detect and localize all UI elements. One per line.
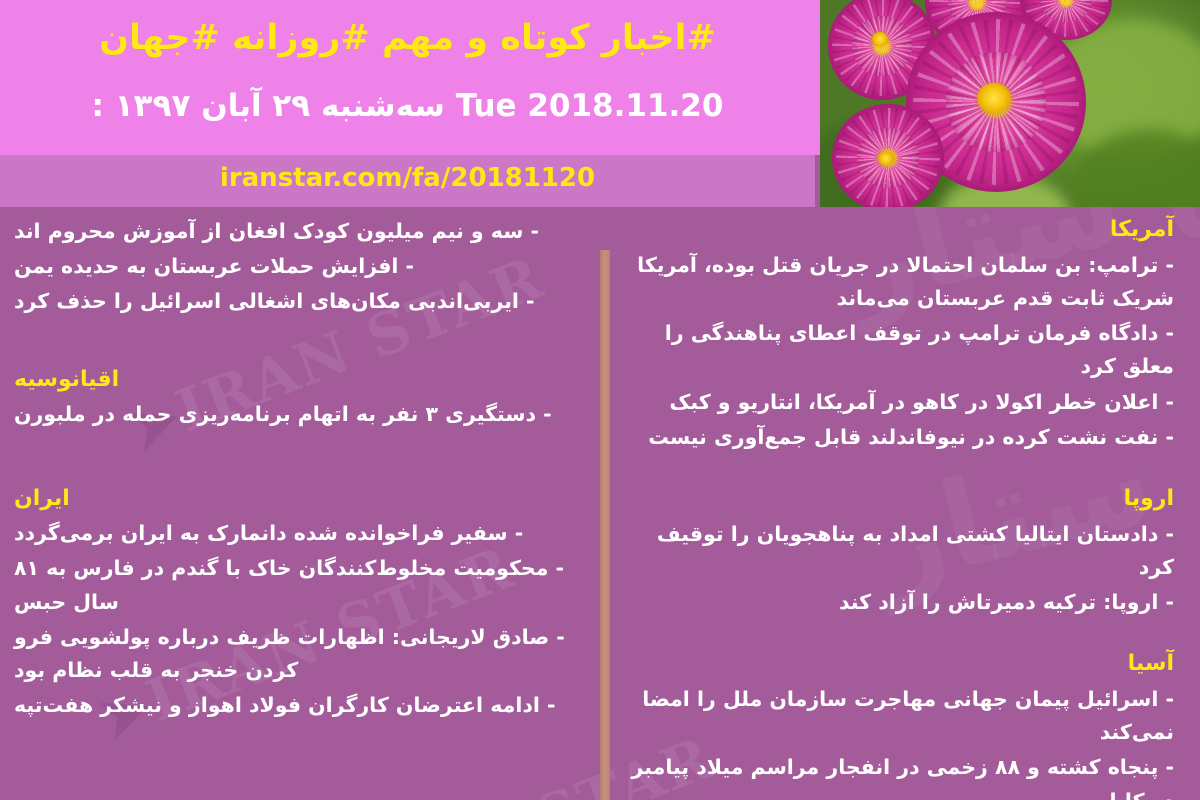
section-heading-europe: اروپا [608, 484, 1188, 514]
flower-center [878, 152, 894, 165]
flower-center-main [977, 83, 1011, 113]
left-news-column: - سه و نیم میلیون کودک افغان از آموزش مح… [0, 215, 585, 728]
news-item[interactable]: - دستگیری ۳ نفر به اتهام برنامه‌ریزی حمل… [0, 398, 585, 431]
section-oceania: اقیانوسیه - دستگیری ۳ نفر به اتهام برنام… [0, 365, 585, 432]
section-america: آمریکا - ترامپ: بن سلمان احتمالا در جریا… [608, 215, 1188, 454]
section-heading-oceania: اقیانوسیه [0, 365, 585, 395]
news-item[interactable]: - اعلان خطر اکولا در کاهو در آمریکا، انت… [608, 386, 1188, 419]
news-item[interactable]: - دادستان ایتالیا کشتی امداد به پناهجویا… [608, 518, 1188, 584]
section-europe: اروپا - دادستان ایتالیا کشتی امداد به پن… [608, 484, 1188, 619]
section-heading-america: آمریکا [608, 215, 1188, 245]
news-item[interactable]: - ادامه اعترضان کارگران فولاد اهواز و نی… [0, 689, 585, 722]
chrysanthemum-photo [820, 0, 1200, 207]
news-item[interactable]: - اسرائیل پیمان جهانی مهاجرت سازمان ملل … [608, 683, 1188, 749]
news-item[interactable]: - ایربی‌اندبی مکان‌های اشغالی اسرائیل را… [0, 285, 585, 318]
news-item[interactable]: - ترامپ: بن سلمان احتمالا در جریان قتل ب… [608, 249, 1188, 315]
news-item[interactable]: - پنجاه کشته و ۸۸ زخمی در انفجار مراسم م… [608, 751, 1188, 800]
date-line: Tue 2018.11.20 سه‌شنبه ۲۹ آبان ۱۳۹۷ : [0, 88, 815, 124]
section-asia: آسیا - اسرائیل پیمان جهانی مهاجرت سازمان… [608, 649, 1188, 800]
section-world-continued: - سه و نیم میلیون کودک افغان از آموزش مح… [0, 215, 585, 319]
news-digest-poster: ➤IRAN STAR ➤IRAN STAR ➤IRAN STAR ➤IRAN S… [0, 0, 1200, 800]
section-heading-iran: ایران [0, 484, 585, 514]
news-item[interactable]: - افزایش حملات عربستان به حدیده یمن [0, 250, 585, 283]
news-item[interactable]: - دادگاه فرمان ترامپ در توقف اعطای پناهن… [608, 317, 1188, 383]
news-item[interactable]: - اروپا: ترکیه دمیرتاش را آزاد کند [608, 586, 1188, 619]
date-persian: سه‌شنبه ۲۹ آبان ۱۳۹۷ : [92, 88, 445, 124]
page-title: #اخبار کوتاه و مهم #روزانه #جهان [0, 18, 815, 58]
flower-center [872, 32, 888, 46]
right-news-column: آمریکا - ترامپ: بن سلمان احتمالا در جریا… [608, 215, 1188, 800]
news-item[interactable]: - صادق لاریجانی: اظهارات ظریف درباره پول… [0, 621, 585, 687]
news-item[interactable]: - سه و نیم میلیون کودک افغان از آموزش مح… [0, 215, 585, 248]
news-item[interactable]: - نفت نشت کرده در نیوفاندلند قابل جمع‌آو… [608, 421, 1188, 454]
section-heading-asia: آسیا [608, 649, 1188, 679]
news-item[interactable]: - سفیر فراخوانده شده دانمارک به ایران بر… [0, 517, 585, 550]
date-latin: Tue 2018.11.20 [456, 88, 724, 124]
news-item[interactable]: - محکومیت مخلوط‌کنندگان خاک با گندم در ف… [0, 552, 585, 618]
section-iran: ایران - سفیر فراخوانده شده دانمارک به ای… [0, 484, 585, 723]
site-url-link[interactable]: iranstar.com/fa/20181120 [0, 163, 815, 193]
